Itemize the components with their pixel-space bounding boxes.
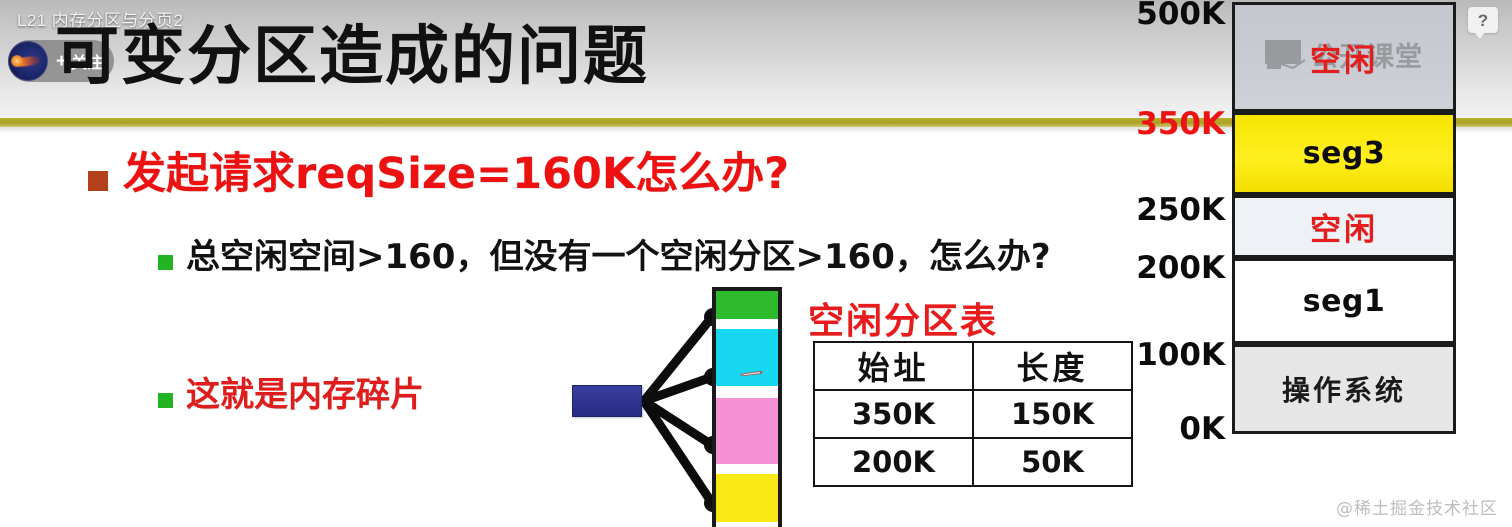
strip-segment-green <box>716 291 778 319</box>
bullet-item-1: 发起请求reqSize=160K怎么办? <box>88 152 789 197</box>
table-header-start-address: 始址 <box>814 342 973 390</box>
memory-block-free-top: 公开课堂 空闲 <box>1232 2 1456 112</box>
free-list-head-node <box>572 385 642 417</box>
memory-block-free-mid: 空闲 <box>1232 195 1456 258</box>
axis-label-500k: 500K <box>1136 0 1225 32</box>
bullet-text: 总空闲空间>160，但没有一个空闲分区>160，怎么办? <box>186 240 1051 275</box>
memory-strip <box>712 287 782 527</box>
bullet-item-2: 总空闲空间>160，但没有一个空闲分区>160，怎么办? <box>158 240 1051 275</box>
bullet-text: 发起请求reqSize=160K怎么办? <box>123 152 789 197</box>
bullet-marker-square <box>158 255 173 270</box>
axis-label-200k: 200K <box>1136 250 1225 286</box>
table-row: 350K 150K <box>814 390 1132 438</box>
table-header-row: 始址 长度 <box>814 342 1132 390</box>
axis-label-0k: 0K <box>1179 411 1225 447</box>
corner-watermark: @稀土掘金技术社区 <box>1336 494 1498 519</box>
memory-block-seg3: seg3 <box>1232 112 1456 195</box>
help-icon[interactable]: ? <box>1468 7 1498 33</box>
table-cell-length: 50K <box>973 438 1132 486</box>
table-row: 200K 50K <box>814 438 1132 486</box>
help-icon-glyph: ? <box>1478 12 1488 29</box>
free-partition-table-title: 空闲分区表 <box>808 292 998 344</box>
strip-gap <box>716 386 778 398</box>
table-cell-start-address: 350K <box>814 390 973 438</box>
monitor-icon <box>1263 38 1307 72</box>
strip-gap <box>716 319 778 329</box>
free-list-diagram <box>560 285 800 527</box>
bullet-marker-square <box>158 393 173 408</box>
memory-map-diagram: 公开课堂 空闲 seg3 空闲 seg1 操作系统 <box>1232 0 1456 440</box>
table-cell-length: 150K <box>973 390 1132 438</box>
memory-axis: 500K 350K 250K 200K 100K 0K <box>1135 0 1225 450</box>
strip-segment-yellow <box>716 474 778 522</box>
axis-label-250k: 250K <box>1136 192 1225 228</box>
bullet-marker-square <box>88 171 108 191</box>
memory-block-label: seg1 <box>1303 284 1386 319</box>
memory-block-operating-system: 操作系统 <box>1232 344 1456 434</box>
table-cell-start-address: 200K <box>814 438 973 486</box>
memory-block-label: 空闲 <box>1310 204 1378 249</box>
strip-segment-pink <box>716 398 778 464</box>
axis-label-350k: 350K <box>1136 106 1225 142</box>
strip-gap <box>716 522 778 527</box>
avatar-highlight <box>11 55 23 67</box>
bullet-item-3: 这就是内存碎片 <box>158 378 424 413</box>
table-header-length: 长度 <box>973 342 1132 390</box>
avatar[interactable] <box>8 41 48 81</box>
memory-block-label: 空闲 <box>1310 35 1378 80</box>
free-partition-table: 始址 长度 350K 150K 200K 50K <box>813 341 1133 487</box>
axis-label-100k: 100K <box>1136 337 1225 373</box>
memory-block-seg1: seg1 <box>1232 258 1456 344</box>
memory-block-label: seg3 <box>1303 136 1386 171</box>
page-title: 可变分区造成的问题 <box>55 25 649 89</box>
strip-gap <box>716 464 778 474</box>
bullet-text: 这就是内存碎片 <box>186 378 424 413</box>
memory-block-label: 操作系统 <box>1282 369 1406 409</box>
